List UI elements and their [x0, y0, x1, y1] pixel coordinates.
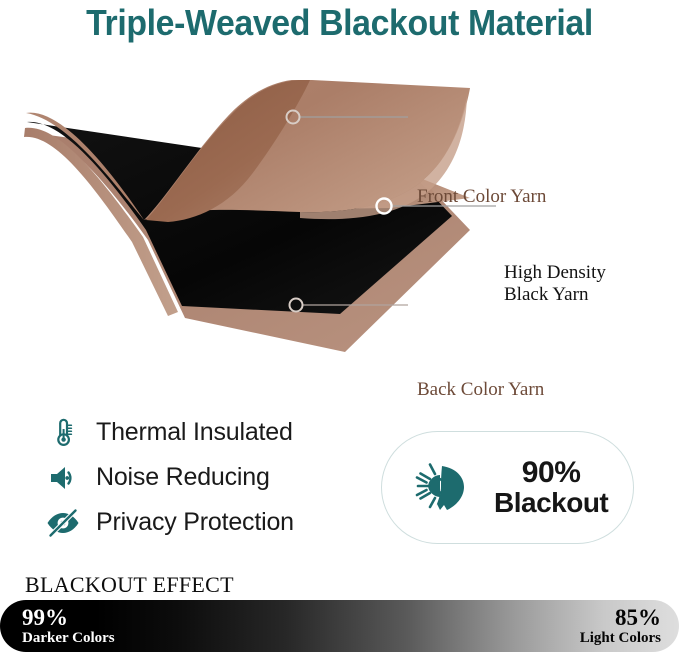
feature-item-privacy-protection: Privacy Protection: [44, 500, 374, 545]
blackout-percent: 90%: [522, 456, 581, 489]
gradient-bar-left-stat: 99% Darker Colors: [22, 606, 115, 646]
label-high-density-line1: High Density: [504, 262, 606, 283]
feature-label-thermal-insulated: Thermal Insulated: [96, 418, 293, 447]
label-back-color-yarn: Back Color Yarn: [417, 379, 544, 401]
darker-colors-caption: Darker Colors: [22, 631, 115, 646]
darker-colors-percent: 99%: [22, 606, 115, 629]
blackout-badge: 90% Blackout: [381, 431, 634, 544]
feature-item-noise-reducing: Noise Reducing: [44, 455, 374, 500]
fabric-layers-svg: [0, 80, 679, 355]
label-high-density-line2: Black Yarn: [504, 284, 588, 305]
gradient-bar-right-stat: 85% Light Colors: [580, 606, 661, 646]
light-colors-percent: 85%: [580, 606, 661, 629]
blackout-effect-heading: BLACKOUT EFFECT: [25, 572, 234, 598]
blackout-effect-gradient-bar: 99% Darker Colors 85% Light Colors: [0, 600, 679, 652]
label-high-density-black-yarn: High Density Black Yarn: [504, 262, 606, 306]
fabric-layers-diagram: Front Color Yarn High Density Black Yarn…: [0, 80, 679, 355]
feature-list: Thermal Insulated Noise Reducing Privacy…: [44, 410, 374, 545]
thermometer-icon: [44, 414, 82, 452]
light-colors-caption: Light Colors: [580, 631, 661, 646]
page-title: Triple-Weaved Blackout Material: [20, 2, 658, 44]
feature-label-noise-reducing: Noise Reducing: [96, 463, 270, 492]
blackout-badge-text: 90% Blackout: [494, 458, 608, 517]
eye-slash-icon: [44, 504, 82, 542]
sun-behind-curtain-icon: [404, 451, 478, 525]
speaker-sound-icon: [44, 459, 82, 497]
label-front-color-yarn: Front Color Yarn: [417, 186, 546, 208]
feature-label-privacy-protection: Privacy Protection: [96, 508, 294, 537]
blackout-word: Blackout: [494, 487, 608, 518]
feature-item-thermal-insulated: Thermal Insulated: [44, 410, 374, 455]
